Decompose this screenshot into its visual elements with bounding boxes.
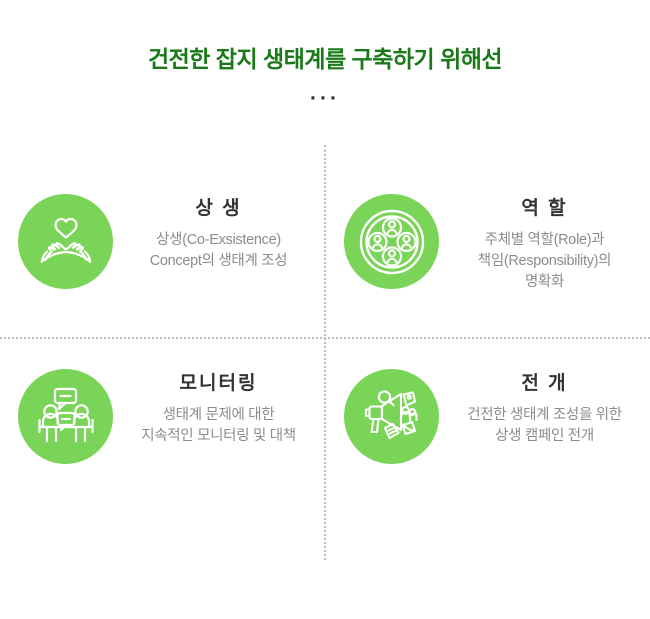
desc-line: 생태계 문제에 대한 <box>119 405 318 426</box>
quadrant-heading: 상 생 <box>119 198 318 221</box>
quadrant-sangsaeng[interactable]: 상 생 상생(Co-Exsistence) Concept의 생태계 조성 <box>18 188 318 289</box>
quadrant-description: 생태계 문제에 대한 지속적인 모니터링 및 대책 <box>119 405 318 447</box>
meeting-discussion-icon <box>18 369 113 464</box>
quadrant-heading: 역 할 <box>445 198 644 221</box>
page-title: 건전한 잡지 생태계를 구축하기 위해선 <box>0 45 650 75</box>
desc-line: 건전한 생태계 조성을 위한 <box>445 405 644 426</box>
quadrant-description: 상생(Co-Exsistence) Concept의 생태계 조성 <box>119 230 318 272</box>
quadrant-text-block: 역 할 주체별 역할(Role)과 책임(Responsibility)의 명확… <box>439 188 644 293</box>
quadrant-text-block: 상 생 상생(Co-Exsistence) Concept의 생태계 조성 <box>113 188 318 272</box>
quadrant-heading: 모니터링 <box>119 373 318 396</box>
quadrant-monitoring[interactable]: 모니터링 생태계 문제에 대한 지속적인 모니터링 및 대책 <box>18 363 318 464</box>
quadrant-jeongae[interactable]: 전 개 건전한 생태계 조성을 위한 상생 캠페인 전개 <box>344 363 644 464</box>
megaphone-campaign-icon <box>344 369 439 464</box>
hands-heart-icon <box>18 194 113 289</box>
quadrant-description: 주체별 역할(Role)과 책임(Responsibility)의 명확화 <box>445 230 644 293</box>
desc-line: 지속적인 모니터링 및 대책 <box>119 426 318 447</box>
desc-line: 주체별 역할(Role)과 <box>445 230 644 251</box>
ellipsis-divider: ··· <box>0 88 650 109</box>
desc-line: 상생 캠페인 전개 <box>445 426 644 447</box>
quadrant-text-block: 전 개 건전한 생태계 조성을 위한 상생 캠페인 전개 <box>439 363 644 447</box>
quadrant-yeokhal[interactable]: 역 할 주체별 역할(Role)과 책임(Responsibility)의 명확… <box>344 188 644 293</box>
desc-line: 명확화 <box>445 272 644 293</box>
quadrant-grid: 상 생 상생(Co-Exsistence) Concept의 생태계 조성 <box>0 170 650 550</box>
desc-line: 책임(Responsibility)의 <box>445 251 644 272</box>
people-circle-roles-icon <box>344 194 439 289</box>
desc-line: Concept의 생태계 조성 <box>119 251 318 272</box>
desc-line: 상생(Co-Exsistence) <box>119 230 318 251</box>
quadrant-text-block: 모니터링 생태계 문제에 대한 지속적인 모니터링 및 대책 <box>113 363 318 447</box>
quadrant-description: 건전한 생태계 조성을 위한 상생 캠페인 전개 <box>445 405 644 447</box>
quadrant-heading: 전 개 <box>445 373 644 396</box>
